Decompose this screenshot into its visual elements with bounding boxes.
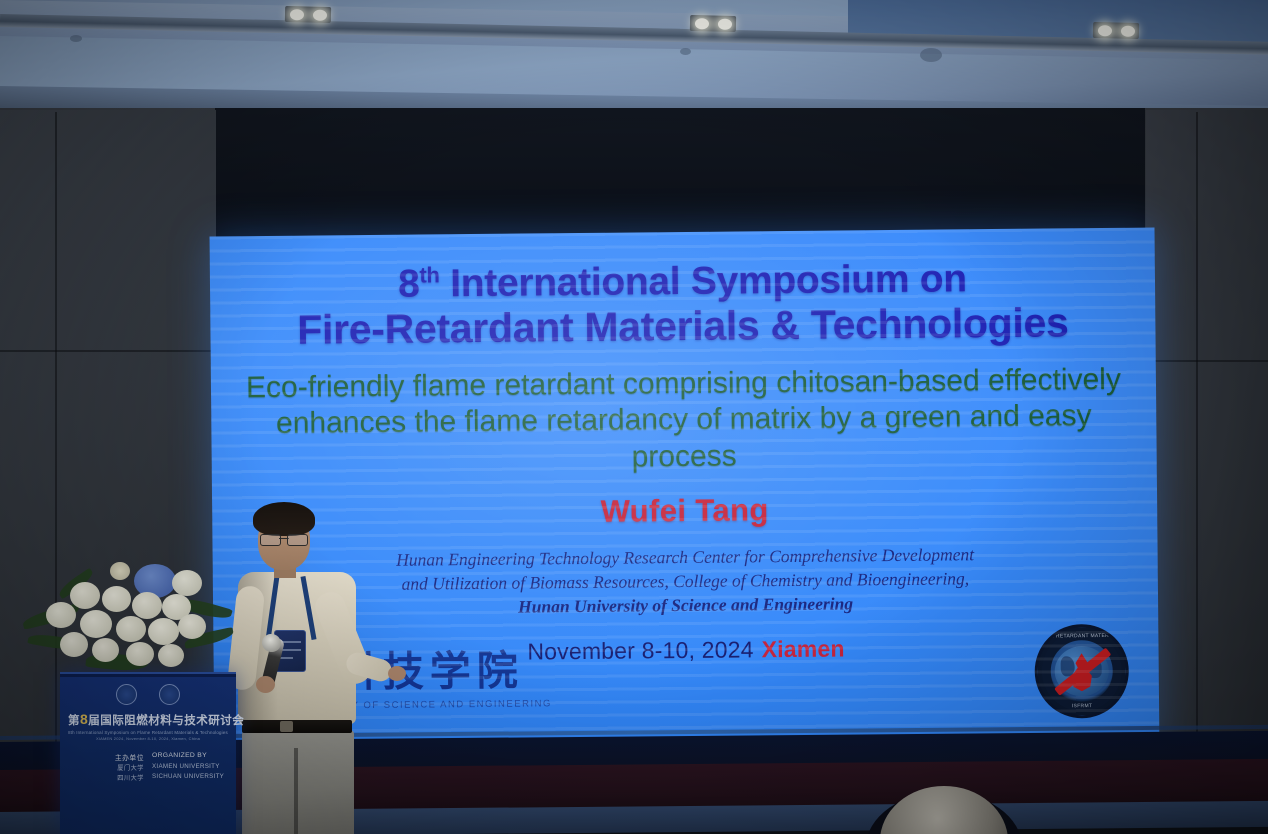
white-rose	[92, 638, 119, 662]
spotlight-bulb	[312, 9, 326, 20]
podium-lectern: 第8届国际阻燃材料与技术研讨会 8th International Sympos…	[60, 672, 236, 834]
slide-subtitle: Eco-friendly flame retardant comprising …	[243, 361, 1124, 479]
ceiling-vent-round	[920, 48, 942, 62]
white-rose	[80, 610, 112, 638]
wall-seam-vertical-right	[1196, 112, 1198, 768]
spotlight-bulb	[289, 9, 303, 20]
ceiling-vent-small	[680, 48, 691, 55]
white-rose	[158, 644, 184, 667]
white-rose	[148, 618, 179, 645]
organizer-2-en: SICHUAN UNIVERSITY	[152, 773, 228, 782]
spotlight-bulb	[717, 18, 731, 29]
speaker-trousers	[242, 730, 354, 834]
wall-panel-right	[1146, 110, 1268, 770]
conference-emblem-logo: FIRE RETARDANT MATERIALS ISFRMT	[1034, 624, 1129, 719]
spotlight-pair-icon-1	[285, 6, 331, 23]
glasses-icon	[260, 534, 308, 544]
podium-title-english: 8th International Symposium on Flame Ret…	[68, 730, 228, 735]
flower-arrangement	[26, 558, 231, 693]
podium-title-chinese: 第8届国际阻燃材料与技术研讨会	[68, 711, 228, 728]
podium-title-pre: 第	[68, 715, 80, 727]
accent-bloom	[110, 562, 130, 580]
organized-by-label-en: ORGANIZED BY	[152, 752, 228, 762]
emblem-text-top: FIRE RETARDANT MATERIALS	[1037, 633, 1125, 640]
conference-photo-scene: 8th International Symposium on Fire-Reta…	[0, 0, 1268, 834]
spotlight-bulb	[1120, 25, 1134, 36]
title-line2: Fire-Retardant Materials & Technologies	[297, 300, 1069, 353]
podium-title-post: 届国际阻燃材料与技术研讨会	[88, 715, 244, 727]
trouser-seam	[294, 748, 298, 834]
spotlight-pair-icon-2	[690, 15, 736, 32]
belt-buckle	[280, 721, 293, 732]
emblem-text-bottom: ISFRMT	[1038, 703, 1126, 710]
white-rose	[172, 570, 202, 596]
badge-text-line	[279, 657, 293, 659]
speaker-belt	[242, 720, 352, 733]
white-rose	[126, 642, 154, 666]
organizer-2-cn: 四川大学	[68, 773, 144, 782]
organizer-1-en: XIAMEN UNIVERSITY	[152, 763, 228, 772]
organized-by-label-cn: 主办单位	[68, 752, 144, 762]
wall-seam-horizontal-right	[1146, 360, 1268, 362]
slide-date: November 8-10, 2024	[527, 637, 754, 665]
white-rose	[102, 586, 131, 612]
title-line1-rest: International Symposium on	[439, 257, 967, 305]
ceiling-fixture	[70, 35, 82, 42]
podium-title-date: XIAMEN 2024, November 8-10, 2024, Xiamen…	[68, 736, 228, 741]
glasses-lens-right	[287, 534, 308, 546]
spotlight-pair-icon-3	[1093, 22, 1139, 39]
white-rose	[70, 582, 100, 609]
slide-affiliation: Hunan Engineering Technology Research Ce…	[320, 543, 1051, 621]
speaker-presenter	[222, 498, 374, 834]
organizer-1-cn: 厦门大学	[68, 763, 144, 772]
speaker-left-hand	[256, 676, 275, 693]
spotlight-bulb	[694, 18, 708, 29]
podium-organizers-table: 主办单位 ORGANIZED BY 厦门大学 XIAMEN UNIVERSITY…	[68, 752, 228, 782]
white-rose	[178, 614, 206, 639]
white-rose	[60, 632, 88, 657]
slide-city: Xiamen	[762, 636, 845, 663]
title-ordinal-suffix: th	[419, 262, 439, 287]
podium-banner: 第8届国际阻燃材料与技术研讨会 8th International Sympos…	[68, 680, 228, 830]
wall-seam-horizontal-left	[0, 350, 216, 352]
white-rose	[132, 592, 162, 619]
white-rose	[46, 602, 76, 628]
glasses-lens-left	[260, 534, 281, 546]
slide-author-name: Wufei Tang	[600, 493, 769, 531]
spotlight-bulb	[1097, 25, 1111, 36]
slide-title: 8th International Symposium on Fire-Reta…	[297, 256, 1069, 353]
title-number: 8	[398, 263, 420, 306]
slide-date-location: November 8-10, 2024Xiamen	[527, 636, 845, 666]
white-rose	[116, 616, 146, 642]
speaker-hair	[253, 502, 315, 536]
speaker-right-hand	[388, 666, 406, 681]
